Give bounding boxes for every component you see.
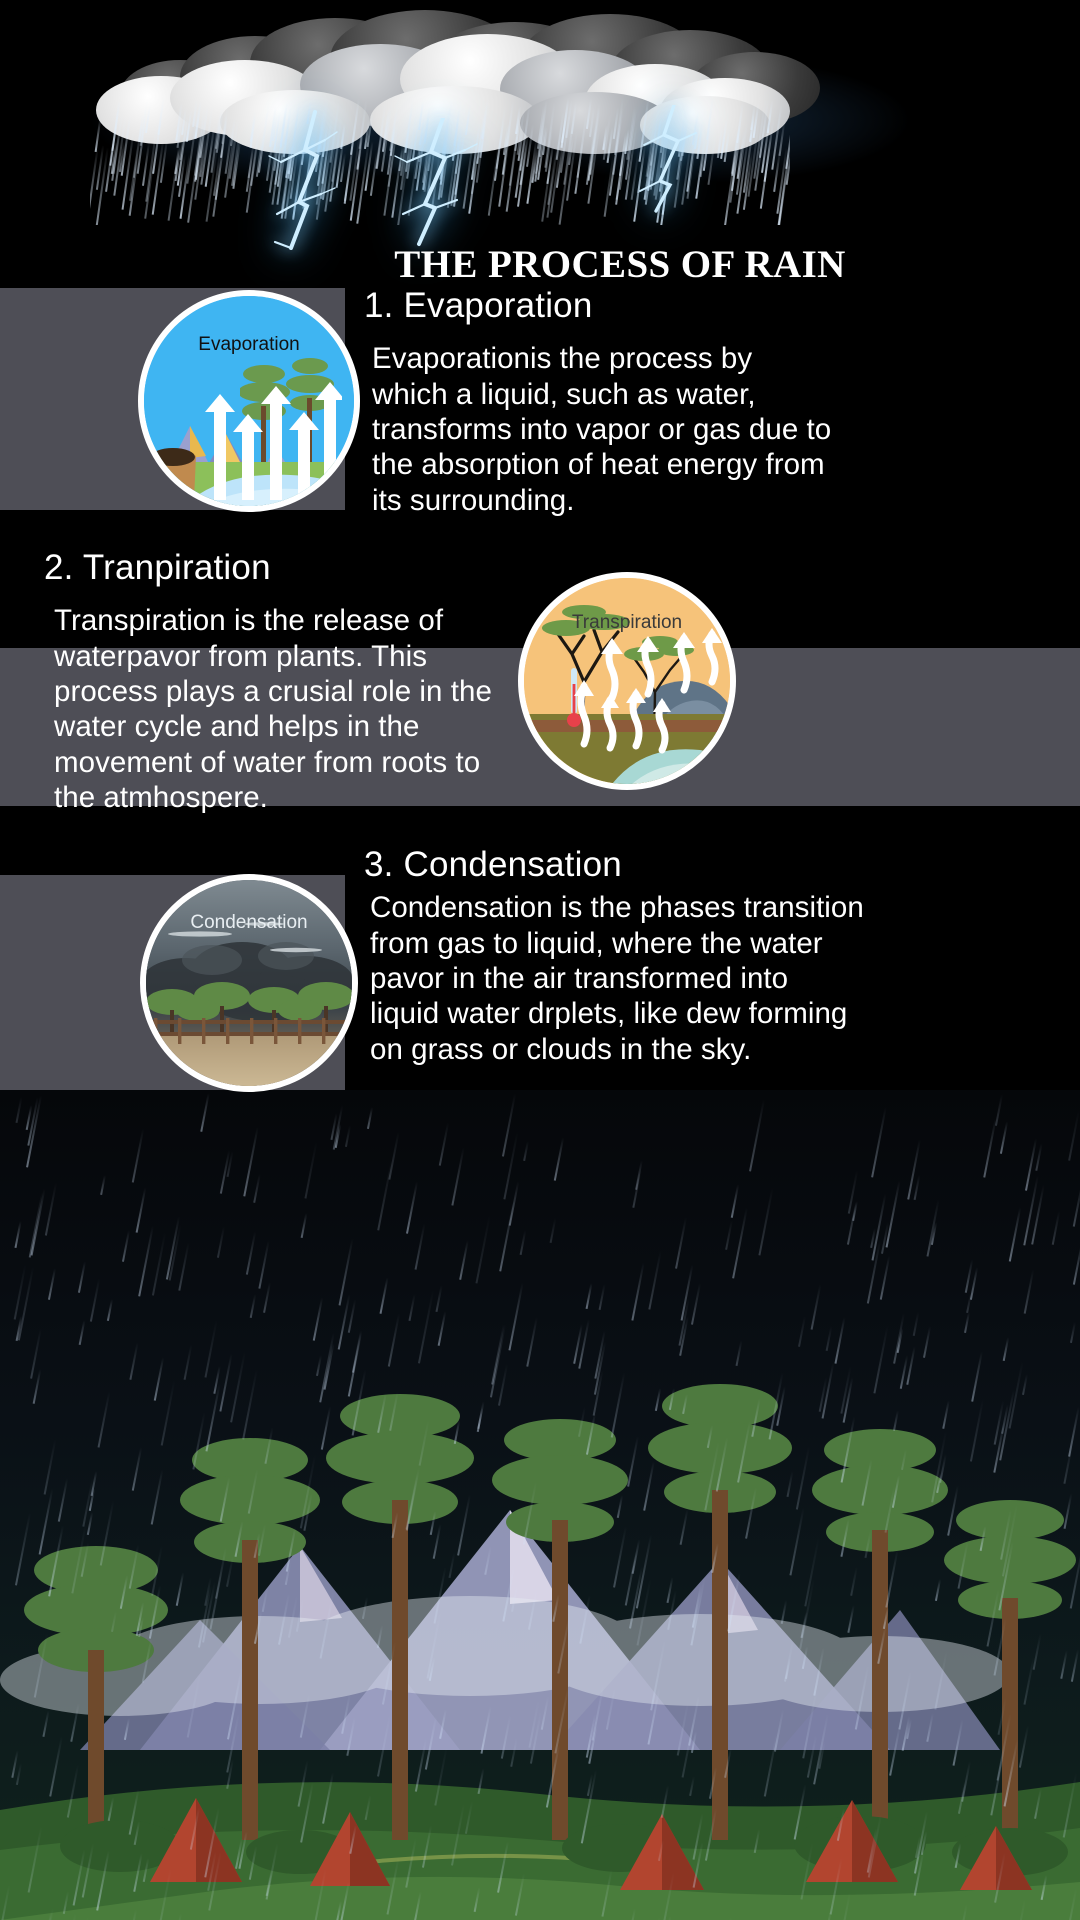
condensation-circle-illustration: Condensation <box>140 874 358 1092</box>
section-3-heading: 3. Condensation <box>364 845 864 884</box>
section-1-body: Evaporationis the process by which a liq… <box>364 341 834 518</box>
lightning-bolt-right <box>620 105 740 215</box>
section-3-body: Condensation is the phases transition fr… <box>364 890 864 1067</box>
illustration-label: Condensation <box>146 912 352 934</box>
transpiration-circle-illustration: Transpiration <box>518 572 736 790</box>
tree-stump <box>146 438 202 500</box>
illustration-label: Transpiration <box>524 612 730 634</box>
page-title: THE PROCESS OF RAIN <box>360 242 880 287</box>
lightning-bolt-center <box>385 118 515 248</box>
section-1-heading: 1. Evaporation <box>364 286 834 325</box>
section-2-body: Transpiration is the release of waterpav… <box>44 603 514 815</box>
section-2-heading: 2. Tranpiration <box>44 548 514 587</box>
footer-rain <box>0 1090 1080 1920</box>
transpiration-arrows <box>572 624 736 764</box>
lightning-bolt-left <box>255 110 385 250</box>
evaporation-circle-illustration: Evaporation <box>138 290 360 512</box>
evaporation-arrows <box>202 370 342 500</box>
rainy-forest-footer-illustration <box>0 1090 1080 1920</box>
illustration-label: Evaporation <box>144 334 354 356</box>
fence <box>146 1018 358 1044</box>
